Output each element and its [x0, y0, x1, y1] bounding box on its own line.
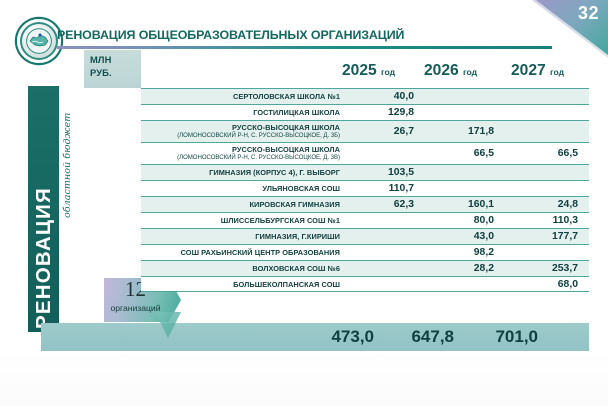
table-cell-organization: ГИМНАЗИЯ, Г.КИРИШИ [141, 232, 347, 241]
renovation-table: СЕРТОЛОВСКАЯ ШКОЛА №140,0ГОСТИЛИЦКАЯ ШКО… [141, 88, 589, 292]
table-row: ГОСТИЛИЦКАЯ ШКОЛА129,8 [141, 104, 589, 120]
table-cell-2025: 62,3 [347, 199, 427, 210]
unit-label: МЛН РУБ. [90, 54, 136, 79]
unit-line-2: РУБ. [90, 67, 112, 78]
regional-coat-of-arms-icon [17, 19, 61, 63]
page-title: РЕНОВАЦИЯ ОБЩЕОБРАЗОВАТЕЛЬНЫХ ОРГАНИЗАЦИ… [57, 28, 404, 42]
column-header-2025: 2025 год [342, 62, 395, 80]
column-header-2027-suffix: год [550, 67, 564, 77]
table-cell-organization: СЕРТОЛОВСКАЯ ШКОЛА №1 [141, 92, 347, 101]
table-row: СОШ РАХЬИНСКИЙ ЦЕНТР ОБРАЗОВАНИЯ98,2 [141, 244, 589, 260]
table-cell-organization: УЛЬЯНОВСКАЯ СОШ [141, 184, 347, 193]
slide: 32 РЕНОВАЦИЯ ОБЩЕОБРАЗОВАТЕЛЬНЫХ ОРГАНИЗ… [0, 0, 608, 406]
organization-name: РУССКО-ВЫСОЦКАЯ ШКОЛА [141, 123, 340, 132]
table-cell-organization: ШЛИССЕЛЬБУРГСКАЯ СОШ №1 [141, 216, 347, 225]
organization-address: (ЛОМОНОСОВСКИЙ Р-Н, С. РУССКО-ВЫСОЦКОЕ, … [141, 132, 340, 140]
table-row: ВОЛХОВСКАЯ СОШ №628,2253,7 [141, 260, 589, 276]
table-cell-organization: БОЛЬШЕКОЛПАНСКАЯ СОШ [141, 280, 347, 289]
table-cell-organization: РУССКО-ВЫСОЦКАЯ ШКОЛА(ЛОМОНОСОВСКИЙ Р-Н,… [141, 145, 347, 162]
table-cell-organization: СОШ РАХЬИНСКИЙ ЦЕНТР ОБРАЗОВАНИЯ [141, 248, 347, 257]
table-row: УЛЬЯНОВСКАЯ СОШ110,7 [141, 180, 589, 196]
table-cell-organization: ГИМНАЗИЯ (КОРПУС 4), Г. ВЫБОРГ [141, 168, 347, 177]
title-divider [57, 46, 552, 49]
table-row: КИРОВСКАЯ ГИМНАЗИЯ62,3160,124,8 [141, 196, 589, 212]
column-header-2025-year: 2025 [342, 62, 377, 79]
organization-name: ВОЛХОВСКАЯ СОШ №6 [141, 264, 340, 273]
table-row: ГИМНАЗИЯ, Г.КИРИШИ43,0177,7 [141, 228, 589, 244]
table-row: ГИМНАЗИЯ (КОРПУС 4), Г. ВЫБОРГ103,5 [141, 164, 589, 180]
organization-name: БОЛЬШЕКОЛПАНСКАЯ СОШ [141, 280, 340, 289]
page-number: 32 [578, 3, 599, 24]
column-header-2026-year: 2026 [424, 62, 459, 79]
table-cell-2027: 253,7 [507, 263, 589, 274]
table-row: БОЛЬШЕКОЛПАНСКАЯ СОШ68,0 [141, 276, 589, 292]
total-2026: 647,8 [387, 327, 467, 347]
column-header-2025-suffix: год [381, 67, 395, 77]
column-header-2027-year: 2027 [511, 62, 546, 79]
table-cell-2025: 129,8 [347, 107, 427, 118]
table-cell-2026: 171,8 [427, 126, 507, 137]
table-cell-2026: 98,2 [427, 247, 507, 258]
table-row: ШЛИССЕЛЬБУРГСКАЯ СОШ №180,0110,3 [141, 212, 589, 228]
table-row: РУССКО-ВЫСОЦКАЯ ШКОЛА(ЛОМОНОСОВСКИЙ Р-Н,… [141, 120, 589, 142]
organization-name: ГОСТИЛИЦКАЯ ШКОЛА [141, 108, 340, 117]
total-2025: 473,0 [307, 327, 387, 347]
table-cell-2027: 68,0 [507, 279, 589, 290]
total-2027: 701,0 [467, 327, 549, 347]
table-cell-2027: 66,5 [507, 148, 589, 159]
table-cell-organization: ГОСТИЛИЦКАЯ ШКОЛА [141, 108, 347, 117]
table-cell-2027: 110,3 [507, 215, 589, 226]
table-cell-2025: 103,5 [347, 167, 427, 178]
table-cell-2026: 28,2 [427, 263, 507, 274]
organization-address: (ЛОМОНОСОВСКИЙ Р-Н, С. РУССКО-ВЫСОЦКОЕ, … [141, 154, 340, 162]
table-cell-organization: РУССКО-ВЫСОЦКАЯ ШКОЛА(ЛОМОНОСОВСКИЙ Р-Н,… [141, 123, 347, 140]
table-cell-2027: 24,8 [507, 199, 589, 210]
table-cell-2026: 43,0 [427, 231, 507, 242]
table-row: РУССКО-ВЫСОЦКАЯ ШКОЛА(ЛОМОНОСОВСКИЙ Р-Н,… [141, 142, 589, 164]
organization-name: УЛЬЯНОВСКАЯ СОШ [141, 184, 340, 193]
organization-name: ШЛИССЕЛЬБУРГСКАЯ СОШ №1 [141, 216, 340, 225]
table-cell-2026: 66,5 [427, 148, 507, 159]
section-banner-subtitle: областной бюджет [62, 98, 76, 218]
organization-name: СЕРТОЛОВСКАЯ ШКОЛА №1 [141, 92, 340, 101]
organization-name: ГИМНАЗИЯ, Г.КИРИШИ [141, 232, 340, 241]
section-banner [28, 86, 59, 332]
table-cell-2025: 26,7 [347, 126, 427, 137]
organization-name: РУССКО-ВЫСОЦКАЯ ШКОЛА [141, 145, 340, 154]
totals-row: 473,0 647,8 701,0 [41, 323, 589, 351]
table-cell-2025: 110,7 [347, 183, 427, 194]
table-cell-2026: 160,1 [427, 199, 507, 210]
table-cell-2026: 80,0 [427, 215, 507, 226]
table-cell-organization: ВОЛХОВСКАЯ СОШ №6 [141, 264, 347, 273]
column-header-2026-suffix: год [463, 67, 477, 77]
column-header-2027: 2027 год [511, 62, 564, 80]
organization-count-label: организаций [104, 303, 167, 313]
unit-line-1: МЛН [90, 54, 111, 65]
organization-name: КИРОВСКАЯ ГИМНАЗИЯ [141, 200, 340, 209]
column-header-2026: 2026 год [424, 62, 477, 80]
table-cell-organization: КИРОВСКАЯ ГИМНАЗИЯ [141, 200, 347, 209]
organization-name: ГИМНАЗИЯ (КОРПУС 4), Г. ВЫБОРГ [141, 168, 340, 177]
table-cell-2025: 40,0 [347, 91, 427, 102]
table-cell-2027: 177,7 [507, 231, 589, 242]
table-row: СЕРТОЛОВСКАЯ ШКОЛА №140,0 [141, 88, 589, 104]
organization-name: СОШ РАХЬИНСКИЙ ЦЕНТР ОБРАЗОВАНИЯ [141, 248, 340, 257]
